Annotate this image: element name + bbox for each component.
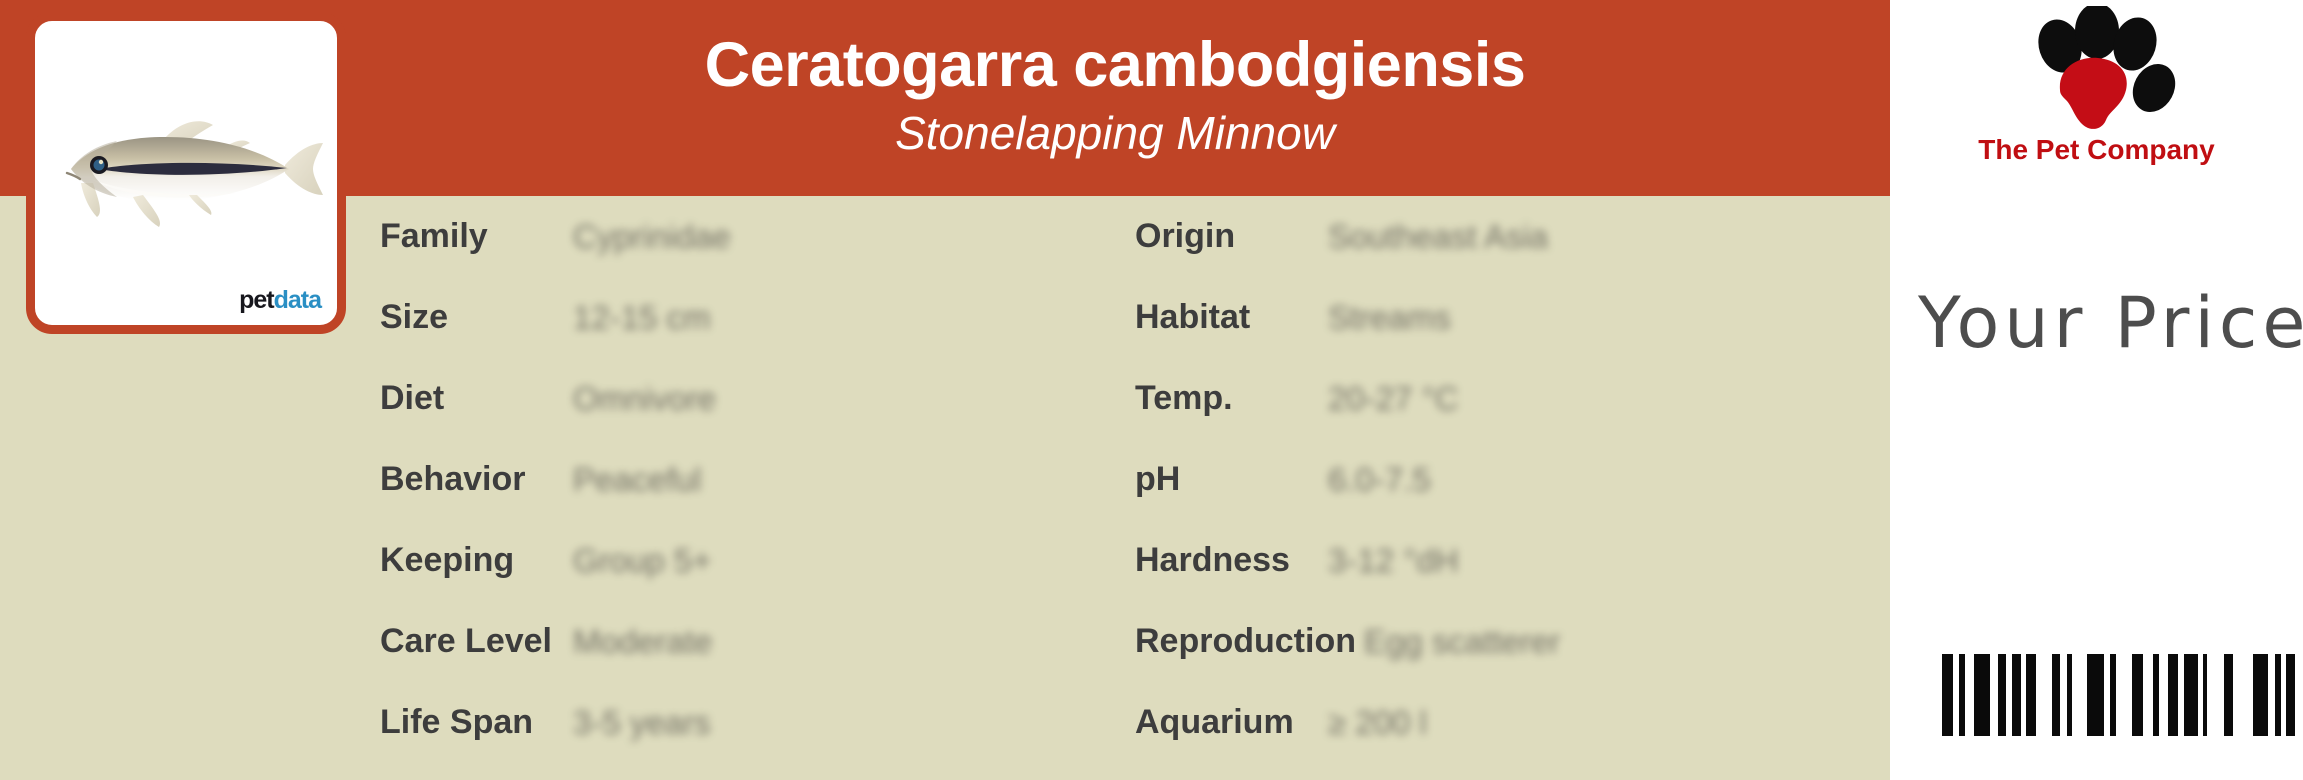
spec-row: Life Span 3-5 years	[380, 682, 1000, 763]
spec-value: 20-27 °C	[1328, 380, 1459, 418]
spec-value: 12-15 cm	[573, 299, 711, 337]
spec-row: Size 12-15 cm	[380, 277, 1000, 358]
spec-label: Hardness	[1135, 541, 1320, 580]
spec-value: 3-5 years	[573, 704, 711, 742]
spec-label: pH	[1135, 460, 1320, 499]
spec-label: Diet	[380, 379, 565, 418]
spec-value: 6.0-7.5	[1328, 461, 1431, 499]
paw-print-icon	[2002, 6, 2192, 134]
spec-label: Life Span	[380, 703, 565, 742]
spec-value: Southeast Asia	[1328, 218, 1548, 256]
spec-label: Habitat	[1135, 298, 1320, 337]
spec-table: Family Cyprinidae Size 12-15 cm Diet Omn…	[0, 196, 1890, 780]
brand-name: The Pet Company	[1978, 136, 2214, 164]
species-info-panel: Ceratogarra cambodgiensis Stonelapping M…	[0, 0, 1890, 780]
title-block: Ceratogarra cambodgiensis Stonelapping M…	[340, 0, 1890, 196]
barcode	[1942, 654, 2295, 736]
spec-row: Behavior Peaceful	[380, 439, 1000, 520]
spec-label: Temp.	[1135, 379, 1320, 418]
spec-row: Diet Omnivore	[380, 358, 1000, 439]
spec-row: Habitat Streams	[1135, 277, 1775, 358]
spec-label: Care Level	[380, 622, 565, 661]
spec-label: Reproduction	[1135, 622, 1356, 661]
spec-value: Omnivore	[573, 380, 716, 418]
spec-label: Origin	[1135, 217, 1320, 256]
spec-label: Aquarium	[1135, 703, 1320, 742]
spec-row: Temp. 20-27 °C	[1135, 358, 1775, 439]
spec-value: Peaceful	[573, 461, 701, 499]
spec-label: Behavior	[380, 460, 565, 499]
common-name: Stonelapping Minnow	[895, 108, 1335, 159]
spec-column-left: Family Cyprinidae Size 12-15 cm Diet Omn…	[380, 196, 1000, 780]
brand-block: The Pet Company	[1890, 6, 2303, 198]
spec-label: Family	[380, 217, 565, 256]
spec-value: Streams	[1328, 299, 1451, 337]
spec-row: Origin Southeast Asia	[1135, 196, 1775, 277]
spec-row: Reproduction Egg scatterer	[1135, 601, 1775, 682]
price-heading: Your Price	[1918, 288, 2303, 358]
spec-value: Egg scatterer	[1364, 623, 1560, 661]
pet-store-fish-label: Ceratogarra cambodgiensis Stonelapping M…	[0, 0, 2303, 780]
spec-row: Care Level Moderate	[380, 601, 1000, 682]
spec-row: Hardness 3-12 °dH	[1135, 520, 1775, 601]
price-panel: The Pet Company Your Price	[1890, 0, 2303, 780]
spec-row: Family Cyprinidae	[380, 196, 1000, 277]
scientific-name: Ceratogarra cambodgiensis	[705, 32, 1526, 98]
spec-label: Keeping	[380, 541, 565, 580]
spec-value: 3-12 °dH	[1328, 542, 1459, 580]
spec-row: Keeping Group 5+	[380, 520, 1000, 601]
spec-value: Cyprinidae	[573, 218, 731, 256]
spec-column-right: Origin Southeast Asia Habitat Streams Te…	[1135, 196, 1775, 780]
spec-row: pH 6.0-7.5	[1135, 439, 1775, 520]
spec-value: ≥ 200 l	[1328, 704, 1427, 742]
spec-value: Group 5+	[573, 542, 712, 580]
spec-row: Aquarium ≥ 200 l	[1135, 682, 1775, 763]
spec-label: Size	[380, 298, 565, 337]
spec-value: Moderate	[573, 623, 712, 661]
